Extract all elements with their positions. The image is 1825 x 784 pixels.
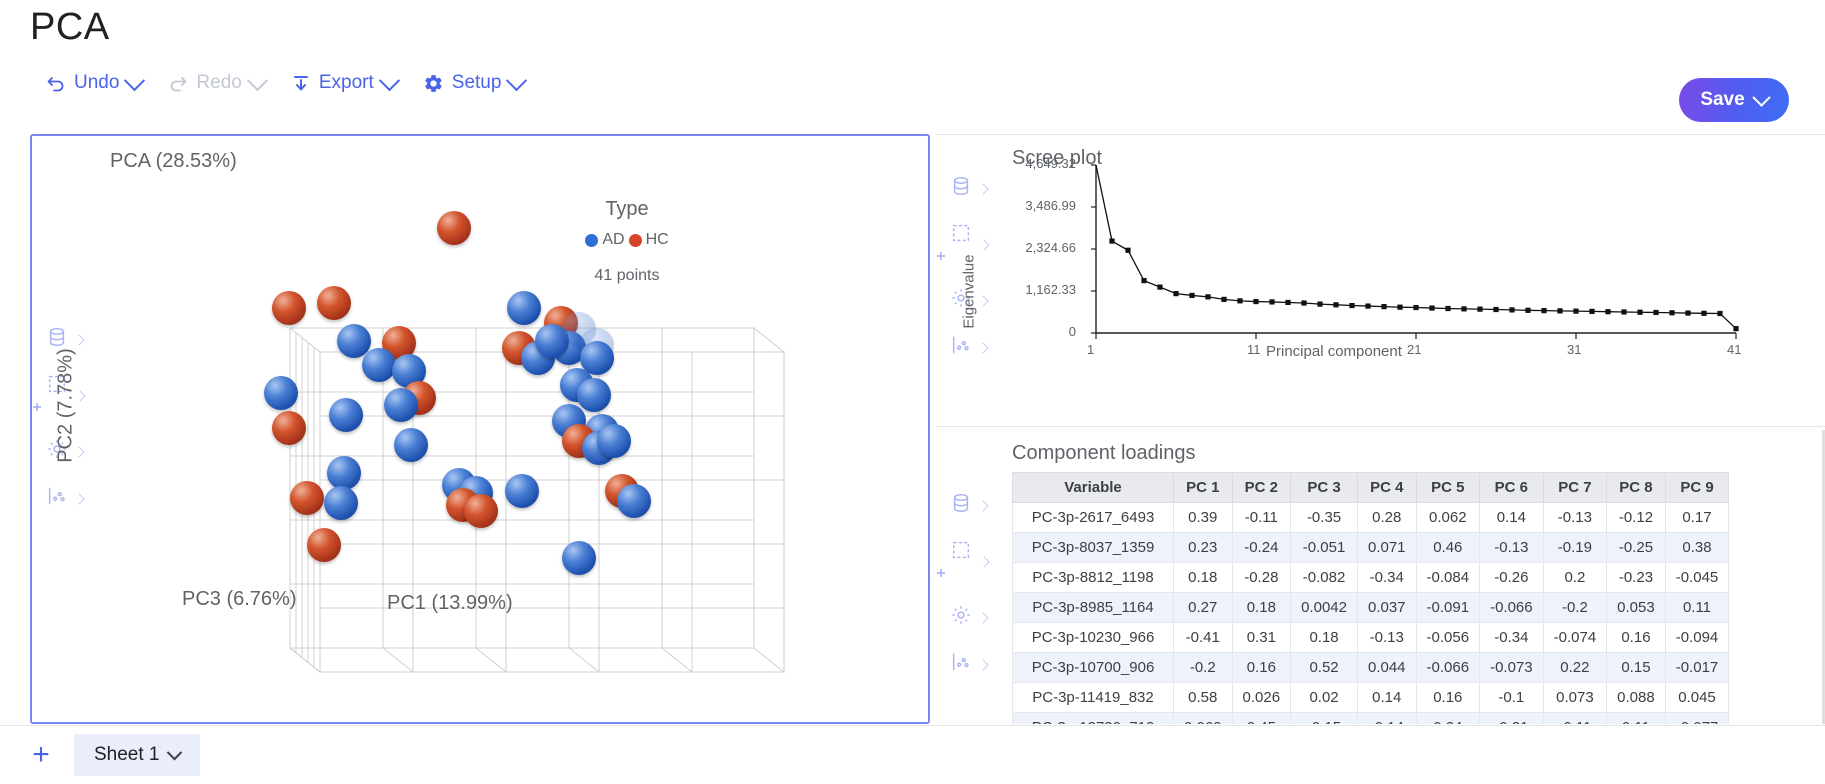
axis-label-pc1: PC1 (13.99%) — [387, 592, 513, 615]
table-cell-value[interactable]: -0.2 — [1543, 593, 1607, 623]
table-row[interactable]: PC-3p-8037_13590.23-0.24-0.0510.0710.46-… — [1013, 533, 1729, 563]
table-cell-value[interactable]: 0.18 — [1232, 593, 1291, 623]
scatter-point[interactable] — [317, 286, 351, 320]
export-button[interactable]: Export — [291, 72, 397, 94]
scatter-point[interactable] — [327, 456, 361, 490]
scatter-point[interactable] — [617, 484, 651, 518]
component-loadings-panel[interactable]: Component loadings — [936, 430, 1825, 724]
table-column-header[interactable]: PC 8 — [1607, 473, 1666, 503]
add-sheet-button[interactable]: + — [28, 740, 54, 770]
scatter-point[interactable] — [264, 376, 298, 410]
database-icon — [950, 492, 972, 519]
table-cell-value[interactable]: -0.084 — [1416, 563, 1480, 593]
gear-icon — [423, 73, 444, 94]
table-cell-value[interactable]: 0.58 — [1174, 683, 1233, 713]
export-label: Export — [319, 72, 374, 94]
table-row[interactable]: PC-3p-10700_906-0.20.160.520.044-0.066-0… — [1013, 653, 1729, 683]
sheet-tab-label: Sheet 1 — [94, 744, 160, 766]
undo-icon — [46, 73, 66, 93]
table-row[interactable]: PC-3p-10230_966-0.410.310.18-0.13-0.056-… — [1013, 623, 1729, 653]
chevron-right-icon[interactable] — [977, 342, 988, 353]
table-cell-value[interactable]: -0.28 — [1232, 563, 1291, 593]
table-cell-value[interactable]: 0.23 — [1174, 533, 1233, 563]
table-cell-value[interactable]: -0.13 — [1357, 623, 1416, 653]
table-column-header[interactable]: PC 4 — [1357, 473, 1416, 503]
table-cell-variable[interactable]: PC-3p-11419_832 — [1013, 683, 1174, 713]
page-title: PCA — [30, 6, 110, 49]
table-cell-value[interactable]: 0.037 — [1357, 593, 1416, 623]
right-column: Scree plot — [936, 134, 1825, 724]
table-cell-value[interactable]: -0.34 — [1480, 623, 1544, 653]
chevron-down-icon — [247, 70, 268, 91]
table-cell-value[interactable]: 0.28 — [1357, 503, 1416, 533]
chevron-down-icon[interactable] — [506, 70, 527, 91]
table-body[interactable]: PC-3p-2617_64930.39-0.11-0.350.280.0620.… — [1013, 503, 1729, 725]
table-column-header[interactable]: PC 7 — [1543, 473, 1607, 503]
table-cell-value[interactable]: -0.19 — [1543, 533, 1607, 563]
table-cell-value[interactable]: 0.45 — [1232, 713, 1291, 725]
axis-label-pc2: PC2 (7.78%) — [55, 346, 78, 466]
table-cell-variable[interactable]: PC-3p-8812_1198 — [1013, 563, 1174, 593]
table-cell-value[interactable]: 0.2 — [1543, 563, 1607, 593]
scree-y-tick: 4,649.32 — [966, 156, 1076, 171]
selection-add-icon — [950, 539, 973, 584]
table-cell-value[interactable]: -0.11 — [1232, 503, 1291, 533]
scatter-point[interactable] — [290, 481, 324, 515]
table-cell-value[interactable]: 0.02 — [1291, 683, 1358, 713]
chevron-right-icon[interactable] — [977, 659, 988, 670]
table-cell-variable[interactable]: PC-3p-10700_906 — [1013, 653, 1174, 683]
table-cell-value[interactable]: 0.46 — [1416, 533, 1480, 563]
table-cell-value[interactable]: 0.16 — [1232, 653, 1291, 683]
redo-button: Redo — [168, 72, 264, 94]
chevron-right-icon[interactable] — [977, 612, 988, 623]
sheet-tab-sheet-1[interactable]: Sheet 1 — [74, 734, 200, 776]
table-cell-value[interactable]: 0.27 — [1174, 593, 1233, 623]
rail-visualization[interactable] — [950, 651, 988, 678]
table-column-header[interactable]: PC 1 — [1174, 473, 1233, 503]
loadings-title: Component loadings — [1012, 442, 1195, 465]
setup-button[interactable]: Setup — [423, 72, 525, 94]
table-cell-value[interactable]: 0.071 — [1357, 533, 1416, 563]
rail-settings[interactable] — [950, 604, 988, 631]
table-column-header[interactable]: PC 6 — [1480, 473, 1544, 503]
legend-title: Type — [552, 198, 702, 221]
table-column-header[interactable]: PC 3 — [1291, 473, 1358, 503]
table-cell-value[interactable]: -0.082 — [1291, 563, 1358, 593]
table-cell-value[interactable]: -0.091 — [1416, 593, 1480, 623]
table-cell-value[interactable]: -0.34 — [1357, 563, 1416, 593]
scatter-point[interactable] — [505, 474, 539, 508]
table-cell-value[interactable]: -0.077 — [1665, 713, 1729, 725]
table-cell-value[interactable]: 0.24 — [1416, 713, 1480, 725]
table-cell-value[interactable]: -0.11 — [1543, 713, 1607, 725]
scatter-point[interactable] — [577, 378, 611, 412]
scatter3d-canvas — [32, 136, 928, 722]
table-cell-value[interactable]: 0.18 — [1174, 563, 1233, 593]
legend-point-count: 41 points — [552, 267, 702, 285]
table-cell-value[interactable]: 0.044 — [1357, 653, 1416, 683]
table-cell-value[interactable]: 0.073 — [1543, 683, 1607, 713]
table-row[interactable]: PC-3p-12720_7120.0690.45-0.15-0.140.24-0… — [1013, 713, 1729, 725]
chevron-right-icon[interactable] — [979, 556, 990, 567]
sheet-bar: + Sheet 1 — [0, 725, 1825, 784]
table-cell-value[interactable]: 0.22 — [1543, 653, 1607, 683]
table-row[interactable]: PC-3p-8812_11980.18-0.28-0.082-0.34-0.08… — [1013, 563, 1729, 593]
table-cell-value[interactable]: -0.074 — [1543, 623, 1607, 653]
undo-button[interactable]: Undo — [46, 72, 142, 94]
legend-entries: AD HC — [552, 231, 702, 249]
table-cell-value[interactable]: 0.39 — [1174, 503, 1233, 533]
redo-label: Redo — [196, 72, 241, 94]
table-cell-value[interactable]: -0.25 — [1607, 533, 1666, 563]
table-cell-value[interactable]: 0.0042 — [1291, 593, 1358, 623]
scatter-point[interactable] — [464, 494, 498, 528]
chevron-right-icon[interactable] — [977, 500, 988, 511]
table-cell-value[interactable]: -0.24 — [1232, 533, 1291, 563]
scatter-point[interactable] — [507, 291, 541, 325]
scatter-point[interactable] — [437, 211, 471, 245]
main-toolbar: Undo Redo Export Setup — [46, 72, 524, 94]
pca-application: PCA Undo Redo Export Set — [0, 0, 1825, 784]
table-cell-value[interactable]: -0.056 — [1416, 623, 1480, 653]
table-cell-value[interactable]: -0.14 — [1357, 713, 1416, 725]
table-cell-value[interactable]: -0.23 — [1607, 563, 1666, 593]
undo-label: Undo — [74, 72, 119, 94]
table-cell-value[interactable]: -0.12 — [1607, 503, 1666, 533]
table-cell-value[interactable]: 0.16 — [1607, 623, 1666, 653]
table-cell-variable[interactable]: PC-3p-8037_1359 — [1013, 533, 1174, 563]
table-cell-value[interactable]: -0.21 — [1480, 713, 1544, 725]
table-cell-value[interactable]: 0.11 — [1665, 593, 1729, 623]
scree-y-tick: 2,324.66 — [966, 240, 1076, 255]
table-cell-value[interactable]: -0.094 — [1665, 623, 1729, 653]
scatter-point[interactable] — [272, 411, 306, 445]
table-cell-value[interactable]: -0.073 — [1480, 653, 1544, 683]
scatter-plot-icon — [950, 651, 972, 678]
table-cell-value[interactable]: -0.1 — [1480, 683, 1544, 713]
chevron-right-icon[interactable] — [977, 183, 988, 194]
table-cell-value[interactable]: 0.17 — [1665, 503, 1729, 533]
table-cell-value[interactable]: 0.069 — [1174, 713, 1233, 725]
table-row[interactable]: PC-3p-11419_8320.580.0260.020.140.16-0.1… — [1013, 683, 1729, 713]
chevron-down-icon[interactable] — [1752, 88, 1770, 106]
scree-y-tick: 1,162.33 — [966, 282, 1076, 297]
scree-chart — [1086, 153, 1746, 363]
table-cell-value[interactable]: 0.14 — [1357, 683, 1416, 713]
scatter-point[interactable] — [307, 528, 341, 562]
table-cell-value[interactable]: 0.088 — [1607, 683, 1666, 713]
table-cell-value[interactable]: 0.38 — [1665, 533, 1729, 563]
table-cell-variable[interactable]: PC-3p-12720_712 — [1013, 713, 1174, 725]
scatter-point[interactable] — [362, 348, 396, 382]
scatter-point[interactable] — [272, 291, 306, 325]
scree-y-tick: 0 — [966, 324, 1076, 339]
table-cell-value[interactable]: 0.16 — [1416, 683, 1480, 713]
scatter-point[interactable] — [597, 424, 631, 458]
scatter-point[interactable] — [384, 388, 418, 422]
redo-icon — [168, 73, 188, 93]
scatter-point[interactable] — [329, 398, 363, 432]
table-cell-value[interactable]: 0.52 — [1291, 653, 1358, 683]
scatter3d-panel[interactable]: PCA (28.53%) — [30, 134, 930, 724]
table-cell-value[interactable]: -0.017 — [1665, 653, 1729, 683]
legend-dot-ad — [585, 234, 598, 247]
scatter-point[interactable] — [394, 428, 428, 462]
table-row[interactable]: PC-3p-8985_11640.270.180.00420.037-0.091… — [1013, 593, 1729, 623]
table-cell-value[interactable]: 0.11 — [1607, 713, 1666, 725]
legend-label-hc: HC — [646, 231, 669, 249]
scree-y-tick: 3,486.99 — [966, 198, 1076, 213]
chevron-down-icon[interactable] — [166, 744, 182, 760]
chevron-down-icon[interactable] — [124, 70, 145, 91]
table-cell-value[interactable]: -0.051 — [1291, 533, 1358, 563]
table-cell-value[interactable]: 0.053 — [1607, 593, 1666, 623]
table-cell-value[interactable]: 0.026 — [1232, 683, 1291, 713]
legend-label-ad: AD — [602, 231, 624, 249]
table-cell-value[interactable]: -0.13 — [1480, 533, 1544, 563]
table-column-header[interactable]: PC 2 — [1232, 473, 1291, 503]
export-icon — [291, 73, 311, 93]
table-cell-value[interactable]: 0.14 — [1480, 503, 1544, 533]
scatter-point[interactable] — [562, 541, 596, 575]
table-cell-variable[interactable]: PC-3p-8985_1164 — [1013, 593, 1174, 623]
table-cell-value[interactable]: 0.15 — [1607, 653, 1666, 683]
setup-label: Setup — [452, 72, 502, 94]
table-cell-value[interactable]: 0.062 — [1416, 503, 1480, 533]
save-label: Save — [1700, 89, 1744, 111]
table-column-header[interactable]: PC 5 — [1416, 473, 1480, 503]
legend-dot-hc — [629, 234, 642, 247]
table-cell-value[interactable]: -0.066 — [1480, 593, 1544, 623]
save-button[interactable]: Save — [1679, 78, 1789, 122]
rail-add-selection[interactable] — [950, 539, 988, 584]
chevron-down-icon[interactable] — [379, 70, 400, 91]
rail-data-source[interactable] — [950, 492, 988, 519]
legend: Type AD HC 41 points — [552, 198, 702, 285]
table-header-row: VariablePC 1PC 2PC 3PC 4PC 5PC 6PC 7PC 8… — [1013, 473, 1729, 503]
table-cell-value[interactable]: 0.045 — [1665, 683, 1729, 713]
table-cell-value[interactable]: -0.26 — [1480, 563, 1544, 593]
scatter-point[interactable] — [324, 486, 358, 520]
table-cell-value[interactable]: -0.066 — [1416, 653, 1480, 683]
table-cell-value[interactable]: -0.15 — [1291, 713, 1358, 725]
gear-icon — [950, 604, 972, 631]
table-column-header[interactable]: PC 9 — [1665, 473, 1729, 503]
component-loadings-table[interactable]: VariablePC 1PC 2PC 3PC 4PC 5PC 6PC 7PC 8… — [1012, 472, 1729, 724]
table-cell-value[interactable]: 0.31 — [1232, 623, 1291, 653]
scree-plot-panel[interactable]: Scree plot — [936, 134, 1825, 427]
table-column-header[interactable]: Variable — [1013, 473, 1174, 503]
table-cell-variable[interactable]: PC-3p-2617_6493 — [1013, 503, 1174, 533]
loadings-rail — [950, 492, 988, 678]
table-cell-value[interactable]: -0.35 — [1291, 503, 1358, 533]
table-cell-variable[interactable]: PC-3p-10230_966 — [1013, 623, 1174, 653]
table-cell-value[interactable]: 0.18 — [1291, 623, 1358, 653]
table-cell-value[interactable]: -0.045 — [1665, 563, 1729, 593]
table-cell-value[interactable]: -0.41 — [1174, 623, 1233, 653]
table-cell-value[interactable]: -0.2 — [1174, 653, 1233, 683]
table-row[interactable]: PC-3p-2617_64930.39-0.11-0.350.280.0620.… — [1013, 503, 1729, 533]
axis-label-pc3: PC3 (6.76%) — [182, 588, 297, 611]
table-cell-value[interactable]: -0.13 — [1543, 503, 1607, 533]
